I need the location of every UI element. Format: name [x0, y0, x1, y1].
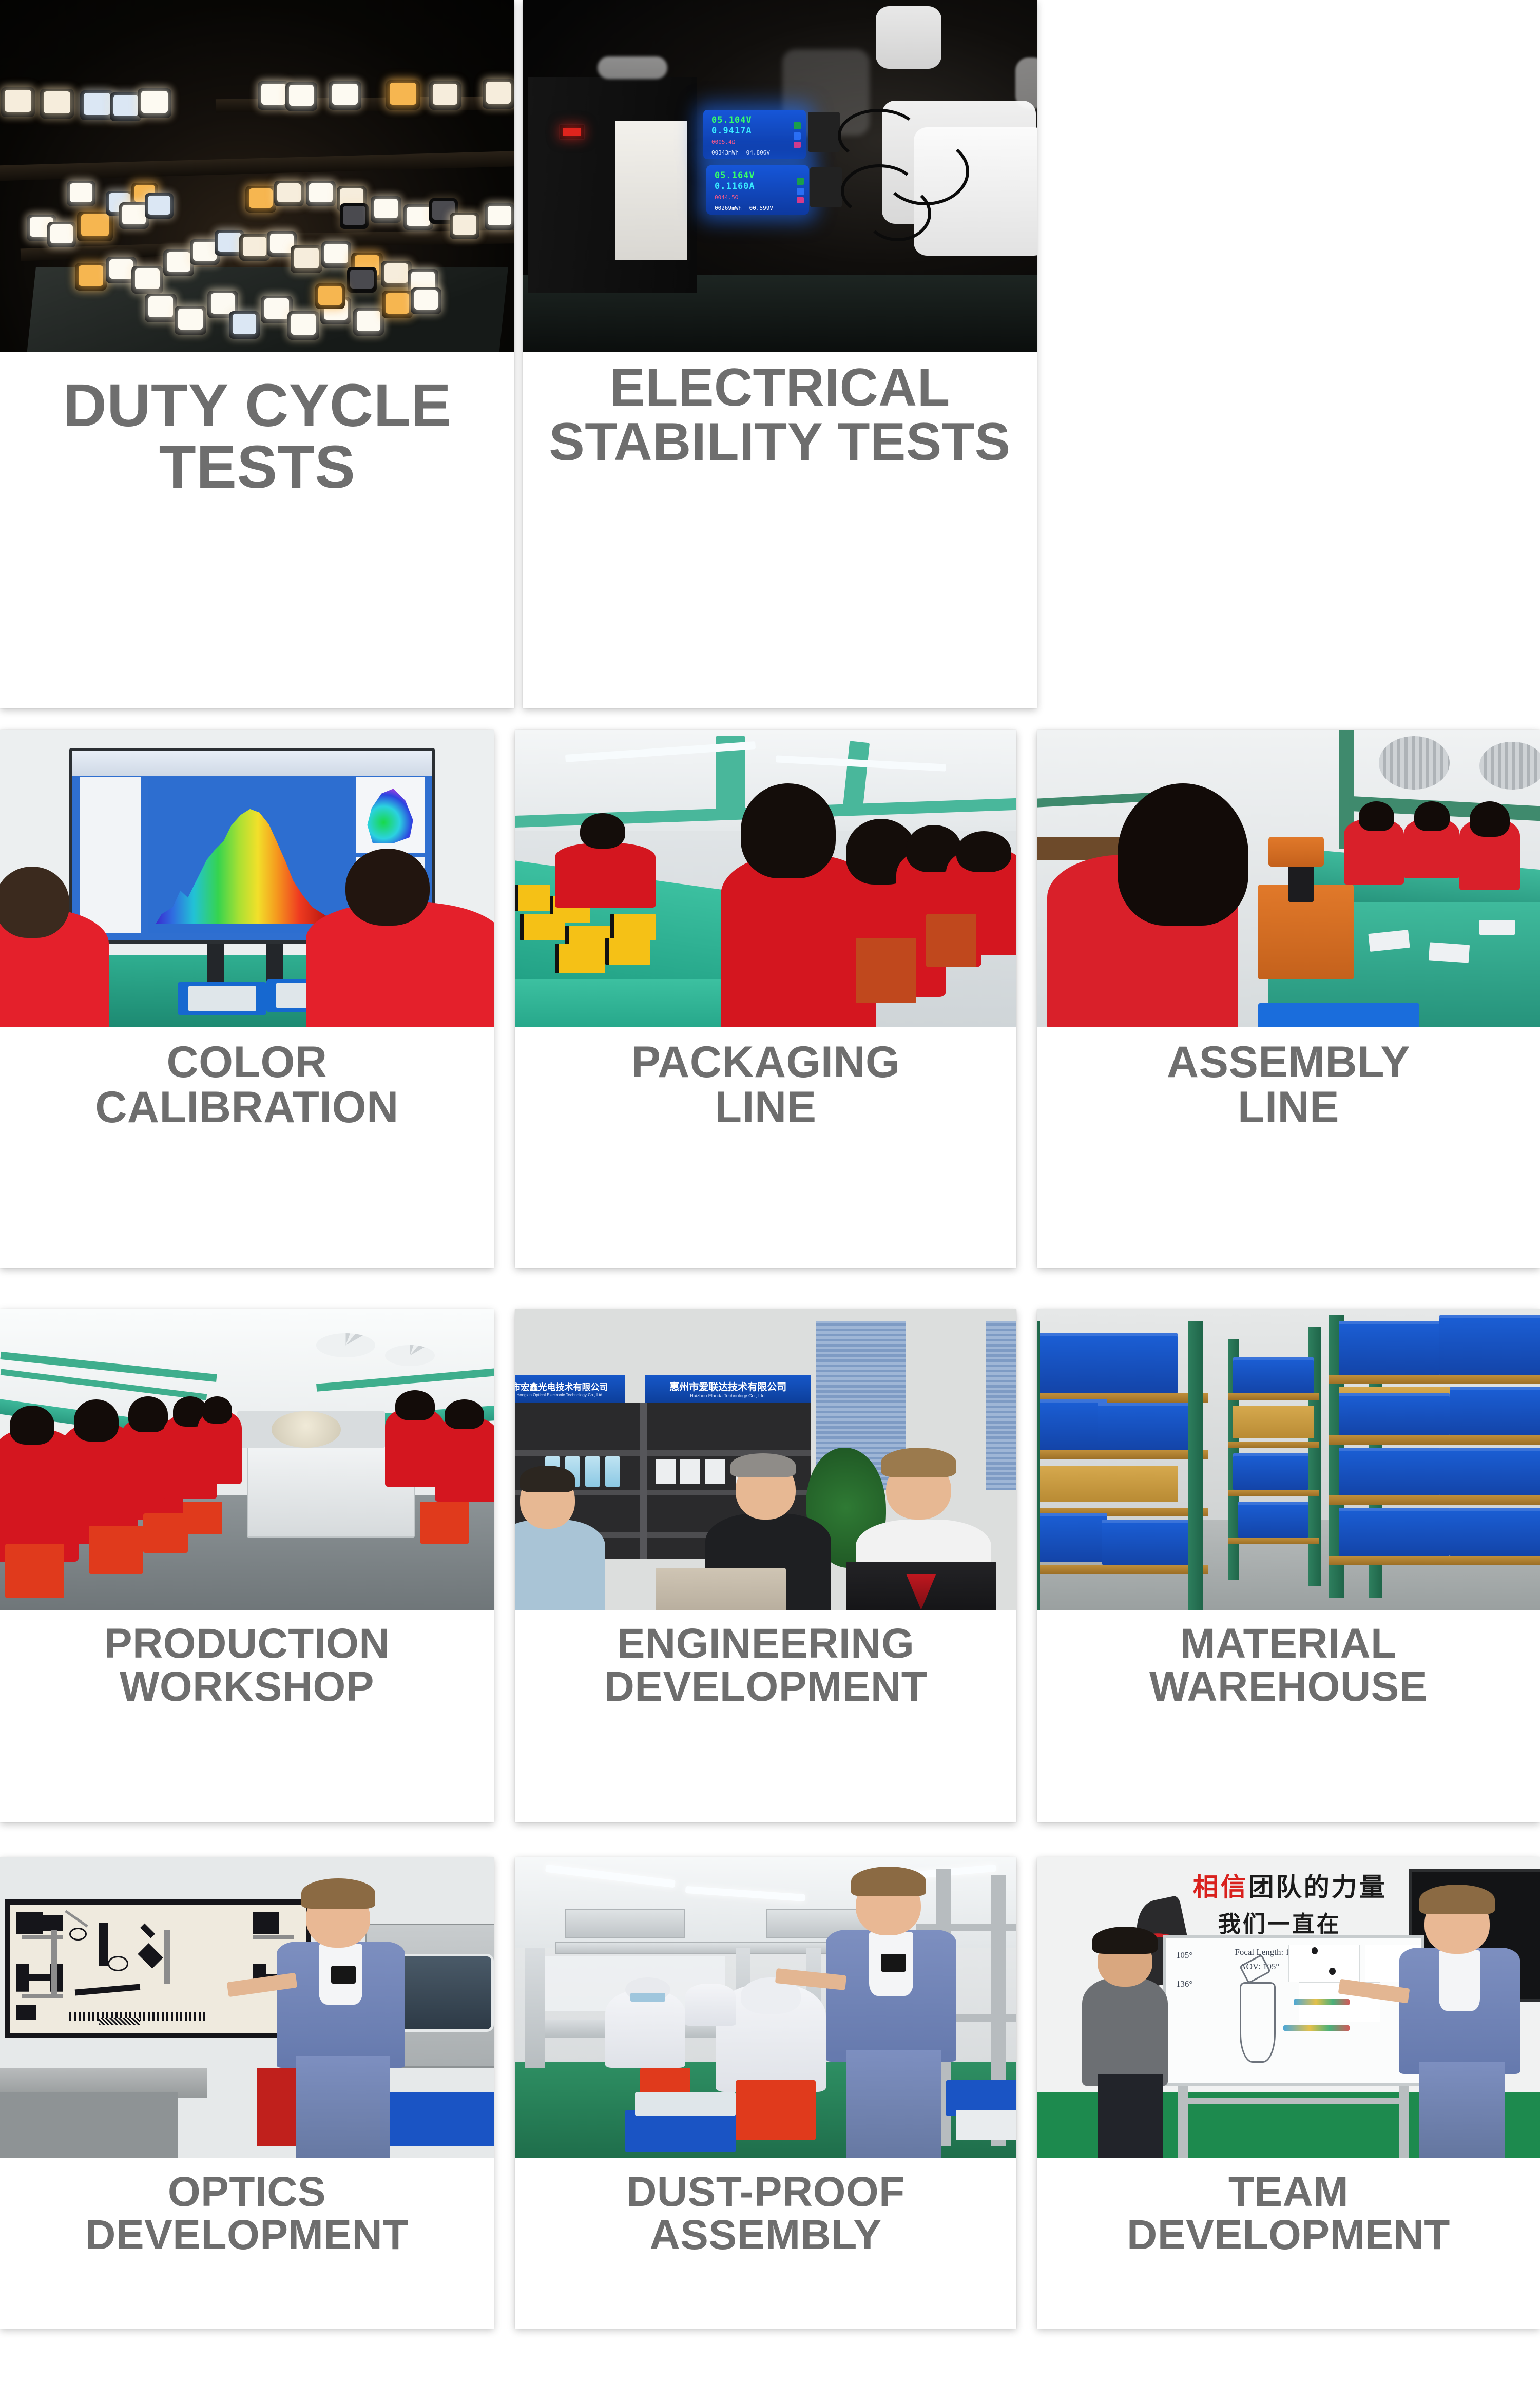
caption-line: ASSEMBLY	[626, 2214, 905, 2257]
card-duty-cycle-tests[interactable]: DUTY CYCLE TESTS	[0, 0, 514, 708]
whiteboard: 105° 136° Focal Length: 16mm AOV: 105°	[1163, 1935, 1424, 2086]
showcase-grid: DUTY CYCLE TESTS 05.104V 0.9417A	[0, 0, 1540, 2382]
shelf-sign-2: 惠州市爱联达技术有限公司 Huizhou Elanda Technology C…	[645, 1375, 811, 1403]
photo-production-workshop	[0, 1309, 494, 1610]
meter-vbus: 00.599V	[749, 205, 773, 212]
sign-en: Huizhou Elanda Technology Co., Ltd.	[690, 1393, 766, 1398]
caption-line: DEVELOPMENT	[604, 1665, 928, 1708]
card-optics-development[interactable]: OPTICS DEVELOPMENT	[0, 1857, 494, 2329]
meter-ohms: 0005.4Ω	[711, 139, 735, 145]
caption-color-calibration: COLOR CALIBRATION	[0, 1027, 494, 1268]
caption-line: TEAM	[1127, 2170, 1450, 2214]
photo-assembly-line	[1037, 730, 1540, 1027]
caption-line: ELECTRICAL	[549, 360, 1010, 415]
card-color-calibration[interactable]: COLOR CALIBRATION	[0, 730, 494, 1268]
presenter-suit	[277, 1942, 405, 2068]
shelf-sign-1: 市宏鑫光电技术有限公司 Hongxin Optical Electronic T…	[515, 1375, 625, 1403]
caption-line: STABILITY TESTS	[549, 415, 1010, 469]
photo-color-calibration	[0, 730, 494, 1027]
caption-line: MATERIAL	[1149, 1622, 1428, 1665]
caption-line: WAREHOUSE	[1149, 1665, 1428, 1708]
caption-dust-proof-assembly: DUST-PROOF ASSEMBLY	[515, 2158, 1016, 2329]
card-material-warehouse[interactable]: MATERIAL WAREHOUSE	[1037, 1309, 1540, 1822]
lapel-badge-icon	[331, 1966, 356, 1984]
meter-current: 0.1160A	[715, 181, 755, 191]
wall-slogan-line2: 我们一直在	[1218, 1906, 1341, 1938]
caption-line: DUST-PROOF	[626, 2170, 905, 2214]
photo-material-warehouse	[1037, 1309, 1540, 1610]
card-packaging-line[interactable]: PACKAGING LINE	[515, 730, 1016, 1268]
meter-voltage: 05.164V	[715, 170, 755, 181]
usb-meter-1: 05.104V 0.9417A 0005.4Ω 00343mWh 04.806V	[703, 110, 806, 159]
caption-line: COLOR	[95, 1040, 399, 1085]
photo-team-development: 相信团队的力量 我们一直在 105° 136° Focal Length: 16…	[1037, 1857, 1540, 2158]
caption-production-workshop: PRODUCTION WORKSHOP	[0, 1610, 494, 1822]
meter-current: 0.9417A	[711, 126, 752, 136]
caption-line: PRODUCTION	[104, 1622, 390, 1665]
card-team-development[interactable]: 相信团队的力量 我们一直在 105° 136° Focal Length: 16…	[1037, 1857, 1540, 2329]
meter-vbus: 04.806V	[746, 149, 770, 156]
photo-dust-proof-assembly	[515, 1857, 1016, 2158]
card-engineering-development[interactable]: 市宏鑫光电技术有限公司 Hongxin Optical Electronic T…	[515, 1309, 1016, 1822]
slogan-dark: 我们一直在	[1218, 1912, 1341, 1937]
card-electrical-stability-tests[interactable]: 05.104V 0.9417A 0005.4Ω 00343mWh 04.806V…	[523, 0, 1037, 708]
lapel-badge-icon	[881, 1954, 906, 1972]
card-dust-proof-assembly[interactable]: DUST-PROOF ASSEMBLY	[515, 1857, 1016, 2329]
sign-cn: 市宏鑫光电技术有限公司	[515, 1380, 608, 1393]
resolution-test-chart	[5, 1899, 311, 2038]
meter-ohms: 0044.5Ω	[715, 194, 738, 201]
meter-mwh: 00343mWh	[711, 149, 739, 156]
card-production-workshop[interactable]: PRODUCTION WORKSHOP	[0, 1309, 494, 1822]
caption-line: OPTICS	[85, 2170, 409, 2214]
caption-line: ASSEMBLY	[1167, 1040, 1410, 1085]
card-assembly-line[interactable]: ASSEMBLY LINE	[1037, 730, 1540, 1268]
photo-packaging-line	[515, 730, 1016, 1027]
colleague	[1082, 1977, 1168, 2086]
presenter-suit	[826, 1930, 956, 2062]
presenter-suit	[1399, 1948, 1520, 2074]
wall-slogan-line1: 相信团队的力量	[1193, 1867, 1387, 1904]
caption-packaging-line: PACKAGING LINE	[515, 1027, 1016, 1268]
photo-duty-cycle-tests	[0, 0, 514, 352]
slogan-dark: 团队的力量	[1248, 1873, 1387, 1901]
photo-engineering-development: 市宏鑫光电技术有限公司 Hongxin Optical Electronic T…	[515, 1309, 1016, 1610]
photo-optics-development	[0, 1857, 494, 2158]
meter-voltage: 05.104V	[711, 115, 752, 125]
whiteboard-angle-top: 105°	[1176, 1950, 1192, 1961]
caption-line: DEVELOPMENT	[1127, 2214, 1450, 2257]
caption-optics-development: OPTICS DEVELOPMENT	[0, 2158, 494, 2329]
caption-line: WORKSHOP	[104, 1665, 390, 1708]
caption-duty-cycle-tests: DUTY CYCLE TESTS	[0, 352, 514, 708]
caption-electrical-stability-tests: ELECTRICAL STABILITY TESTS	[523, 352, 1037, 708]
meter-mwh: 00269mWh	[715, 205, 742, 212]
photo-electrical-stability-tests: 05.104V 0.9417A 0005.4Ω 00343mWh 04.806V…	[523, 0, 1037, 352]
caption-line: ENGINEERING	[604, 1622, 928, 1665]
caption-line: CALIBRATION	[95, 1085, 399, 1130]
caption-material-warehouse: MATERIAL WAREHOUSE	[1037, 1610, 1540, 1822]
sign-en: Hongxin Optical Electronic Technology Co…	[517, 1393, 604, 1397]
caption-line: DUTY CYCLE TESTS	[0, 375, 514, 498]
caption-line: DEVELOPMENT	[85, 2214, 409, 2257]
caption-team-development: TEAM DEVELOPMENT	[1037, 2158, 1540, 2329]
caption-assembly-line: ASSEMBLY LINE	[1037, 1027, 1540, 1268]
caption-line: LINE	[1167, 1085, 1410, 1130]
sign-cn: 惠州市爱联达技术有限公司	[669, 1379, 786, 1393]
slogan-red: 相信	[1193, 1873, 1248, 1901]
caption-line: PACKAGING	[631, 1040, 900, 1085]
usb-meter-2: 05.164V 0.1160A 0044.5Ω 00269mWh 00.599V	[706, 165, 809, 215]
whiteboard-angle-bottom: 136°	[1176, 1979, 1192, 1989]
caption-engineering-development: ENGINEERING DEVELOPMENT	[515, 1610, 1016, 1822]
caption-line: LINE	[631, 1085, 900, 1130]
